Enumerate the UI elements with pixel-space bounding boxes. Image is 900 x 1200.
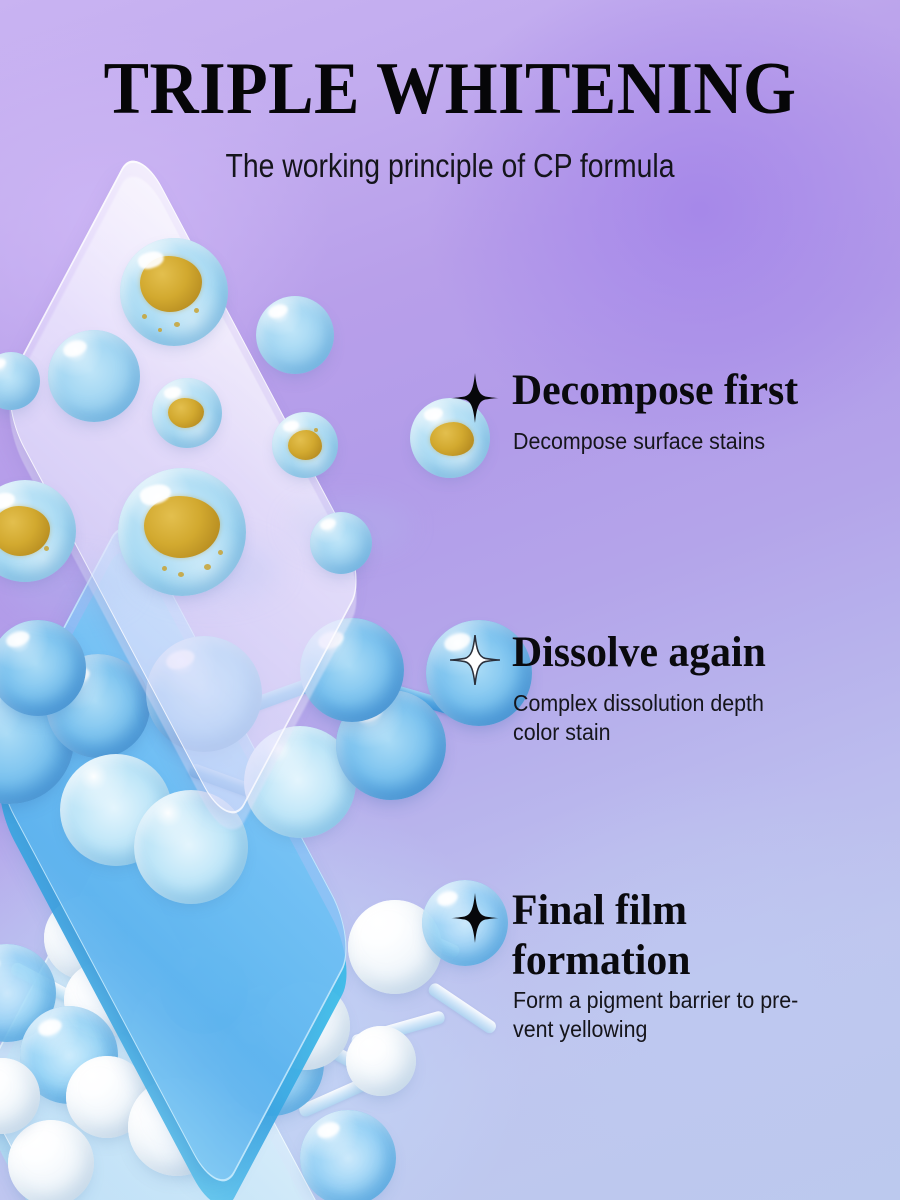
page-subtitle: The working principle of CP formula (63, 146, 837, 186)
poster-canvas: TRIPLE WHITENING The working principle o… (0, 0, 900, 1200)
clear-bubble (48, 330, 140, 422)
step-decompose-first: Decompose first Decompose surface stains (449, 366, 807, 456)
pigment-speck (158, 328, 162, 332)
pigment-speck (314, 428, 318, 432)
pigment-speck (178, 572, 184, 577)
gold-pigment-cluster (140, 256, 202, 312)
pigment-speck (218, 550, 223, 555)
step-body: Form a pigment barrier to pre- vent yell… (513, 986, 798, 1044)
pigment-speck (142, 314, 147, 319)
step-heading: Decompose first (512, 366, 798, 416)
pigment-bubble (152, 378, 222, 448)
molecule-atom (8, 1120, 94, 1200)
sparkle-star-icon (449, 634, 501, 691)
gold-pigment-cluster (288, 430, 322, 460)
clear-bubble (310, 512, 372, 574)
step-dissolve-again: Dissolve again Complex dissolution depth… (449, 628, 783, 747)
pigment-bubble (118, 468, 246, 596)
gold-pigment-cluster (144, 496, 220, 558)
pigment-speck (174, 322, 180, 327)
pigment-speck (194, 308, 199, 313)
pigment-speck (44, 546, 49, 551)
molecule-atom (300, 1110, 396, 1200)
sparkle-star-icon (449, 372, 501, 429)
sparkle-star-icon (449, 892, 501, 949)
step-final-film-formation: Final film formation Form a pigment barr… (449, 886, 820, 1044)
step-body: Complex dissolution depth color stain (513, 689, 764, 747)
step-heading: Dissolve again (512, 628, 766, 678)
pigment-bubble (120, 238, 228, 346)
pigment-speck (162, 566, 167, 571)
molecule-atom (346, 1026, 416, 1096)
gold-pigment-cluster (168, 398, 204, 428)
gold-pigment-cluster (0, 506, 50, 556)
step-heading: Final film formation (512, 886, 690, 986)
step-body: Decompose surface stains (513, 427, 786, 456)
pigment-bubble (272, 412, 338, 478)
page-title: TRIPLE WHITENING (36, 48, 864, 130)
clear-bubble (256, 296, 334, 374)
pigment-speck (204, 564, 211, 570)
